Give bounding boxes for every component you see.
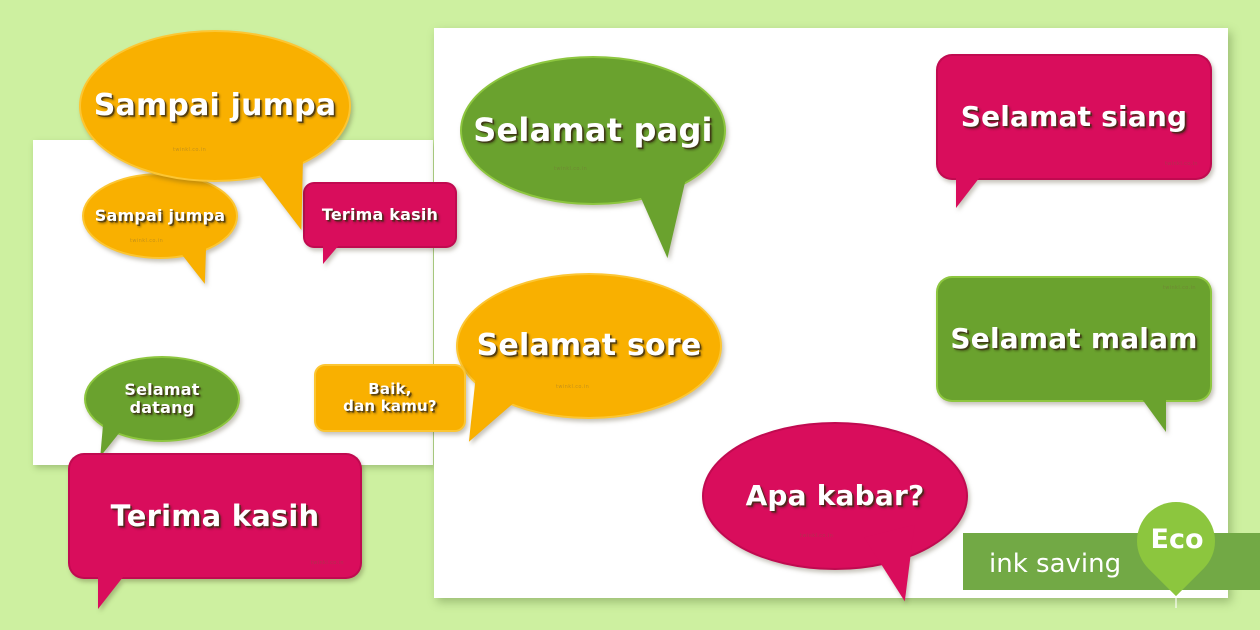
bubble-apa-kabar[interactable]: Apa kabar? twinkl.co.in: [704, 424, 966, 568]
bubble-tail: [100, 415, 132, 459]
watermark: twinkl.co.in: [1163, 286, 1196, 292]
leaf-icon: Eco: [1130, 488, 1222, 613]
bubble-tail: [635, 177, 697, 261]
bubble-selamat-pagi[interactable]: Selamat pagi twinkl.co.in: [462, 58, 724, 203]
watermark: twinkl.co.in: [311, 561, 344, 567]
bubble-terima-kasih-large[interactable]: Terima kasih twinkl.co.in: [70, 455, 360, 577]
bubble-selamat-datang[interactable]: Selamat datang: [86, 358, 238, 440]
bubble-selamat-siang[interactable]: Selamat siang twinkl.co.in: [938, 56, 1210, 178]
bubble-label: Selamat datang: [118, 381, 205, 417]
bubble-label: Baik, dan kamu?: [337, 381, 443, 415]
bubble-sampai-jumpa-small[interactable]: Sampai jumpa twinkl.co.in: [84, 175, 236, 257]
bubble-tail: [956, 164, 990, 208]
bubble-label: Terima kasih: [105, 500, 326, 532]
bubble-tail: [1134, 388, 1166, 432]
eco-label: ink saving: [989, 549, 1121, 579]
poster-stage: Sampai jumpa twinkl.co.in Terima kasih S…: [0, 0, 1260, 630]
ink-saving-eco-badge: ink saving Eco: [963, 533, 1260, 595]
bubble-label: Sampai jumpa: [88, 89, 343, 123]
watermark: twinkl.co.in: [1165, 162, 1198, 168]
bubble-tail: [469, 380, 533, 448]
bubble-terima-kasih-small[interactable]: Terima kasih: [305, 184, 455, 246]
watermark: twinkl.co.in: [554, 167, 587, 173]
bubble-label: Selamat siang: [955, 101, 1194, 132]
bubble-tail: [323, 238, 345, 264]
bubble-label: Sampai jumpa: [89, 207, 232, 225]
watermark: twinkl.co.in: [173, 148, 206, 154]
bubble-label: Selamat sore: [471, 329, 708, 363]
bubble-sampai-jumpa-large[interactable]: Sampai jumpa twinkl.co.in: [81, 32, 349, 180]
watermark: twinkl.co.in: [800, 534, 833, 540]
bubble-label: Terima kasih: [316, 206, 444, 224]
eco-leaf-label: Eco: [1140, 524, 1214, 555]
bubble-selamat-malam[interactable]: Selamat malam twinkl.co.in: [938, 278, 1210, 400]
bubble-label: Selamat malam: [944, 323, 1203, 354]
bubble-selamat-sore[interactable]: Selamat sore twinkl.co.in: [458, 275, 720, 417]
watermark: twinkl.co.in: [130, 239, 163, 245]
bubble-baik-dan-kamu[interactable]: Baik, dan kamu?: [316, 366, 464, 430]
watermark: twinkl.co.in: [556, 385, 589, 391]
bubble-label: Apa kabar?: [740, 480, 931, 511]
bubble-label: Selamat pagi: [467, 113, 718, 149]
bubble-tail: [98, 563, 134, 609]
